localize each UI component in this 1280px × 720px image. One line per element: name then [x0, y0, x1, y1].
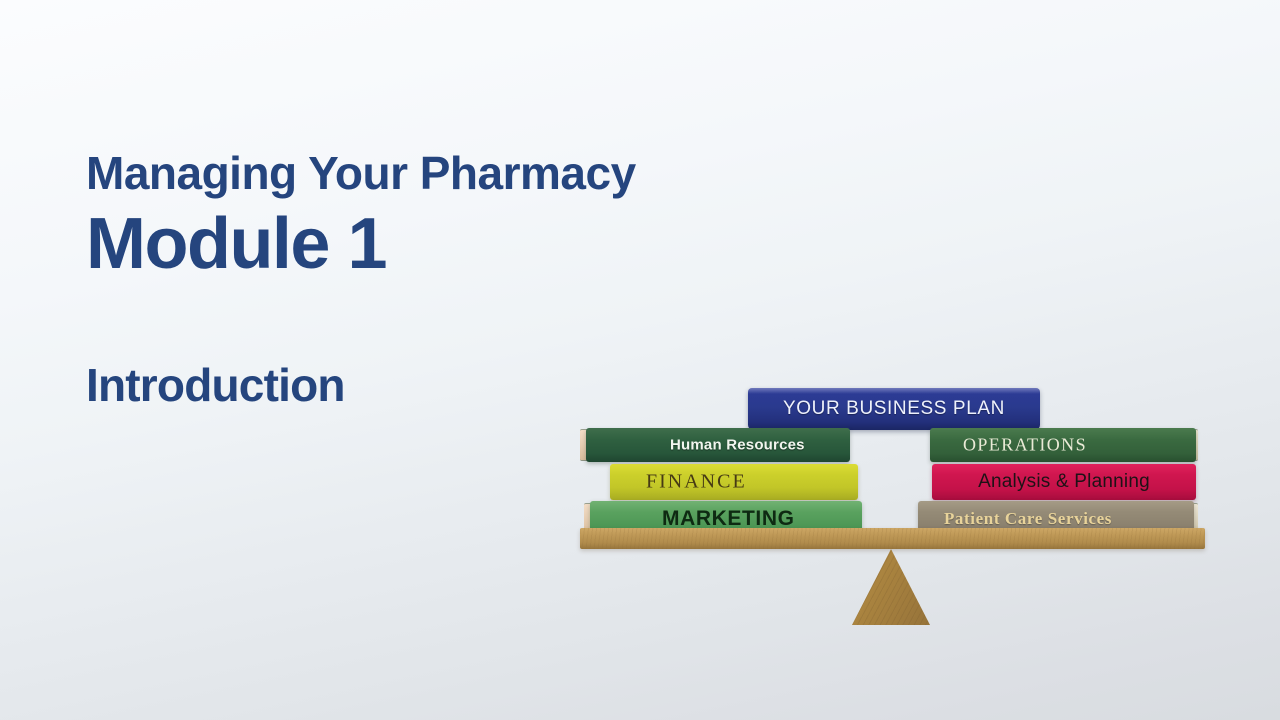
book-human-resources: Human Resources	[586, 428, 850, 462]
book-label-finance: FINANCE	[610, 471, 858, 494]
course-title: Managing Your Pharmacy	[86, 150, 806, 198]
balance-fulcrum-triangle	[852, 549, 930, 625]
book-label-your-business-plan: YOUR BUSINESS PLAN	[748, 398, 1040, 420]
title-block: Managing Your Pharmacy Module 1	[86, 150, 806, 284]
module-title: Module 1	[86, 204, 806, 285]
fulcrum-triangle-shape	[852, 549, 930, 625]
books-balance-illustration: YOUR BUSINESS PLAN Human Resources FINAN…	[560, 370, 1240, 660]
book-label-human-resources: Human Resources	[586, 437, 850, 454]
slide-canvas: Managing Your Pharmacy Module 1 Introduc…	[0, 0, 1280, 720]
book-finance: FINANCE	[610, 464, 858, 500]
book-your-business-plan: YOUR BUSINESS PLAN	[748, 388, 1040, 430]
book-label-patient-care-services: Patient Care Services	[918, 509, 1194, 529]
book-analysis-and-planning: Analysis & Planning	[932, 464, 1196, 500]
slide-subtitle: Introduction	[86, 362, 345, 408]
book-label-operations: OPERATIONS	[930, 435, 1196, 456]
book-label-analysis-and-planning: Analysis & Planning	[932, 471, 1196, 493]
balance-plank	[580, 528, 1205, 549]
book-operations: OPERATIONS	[930, 428, 1196, 462]
